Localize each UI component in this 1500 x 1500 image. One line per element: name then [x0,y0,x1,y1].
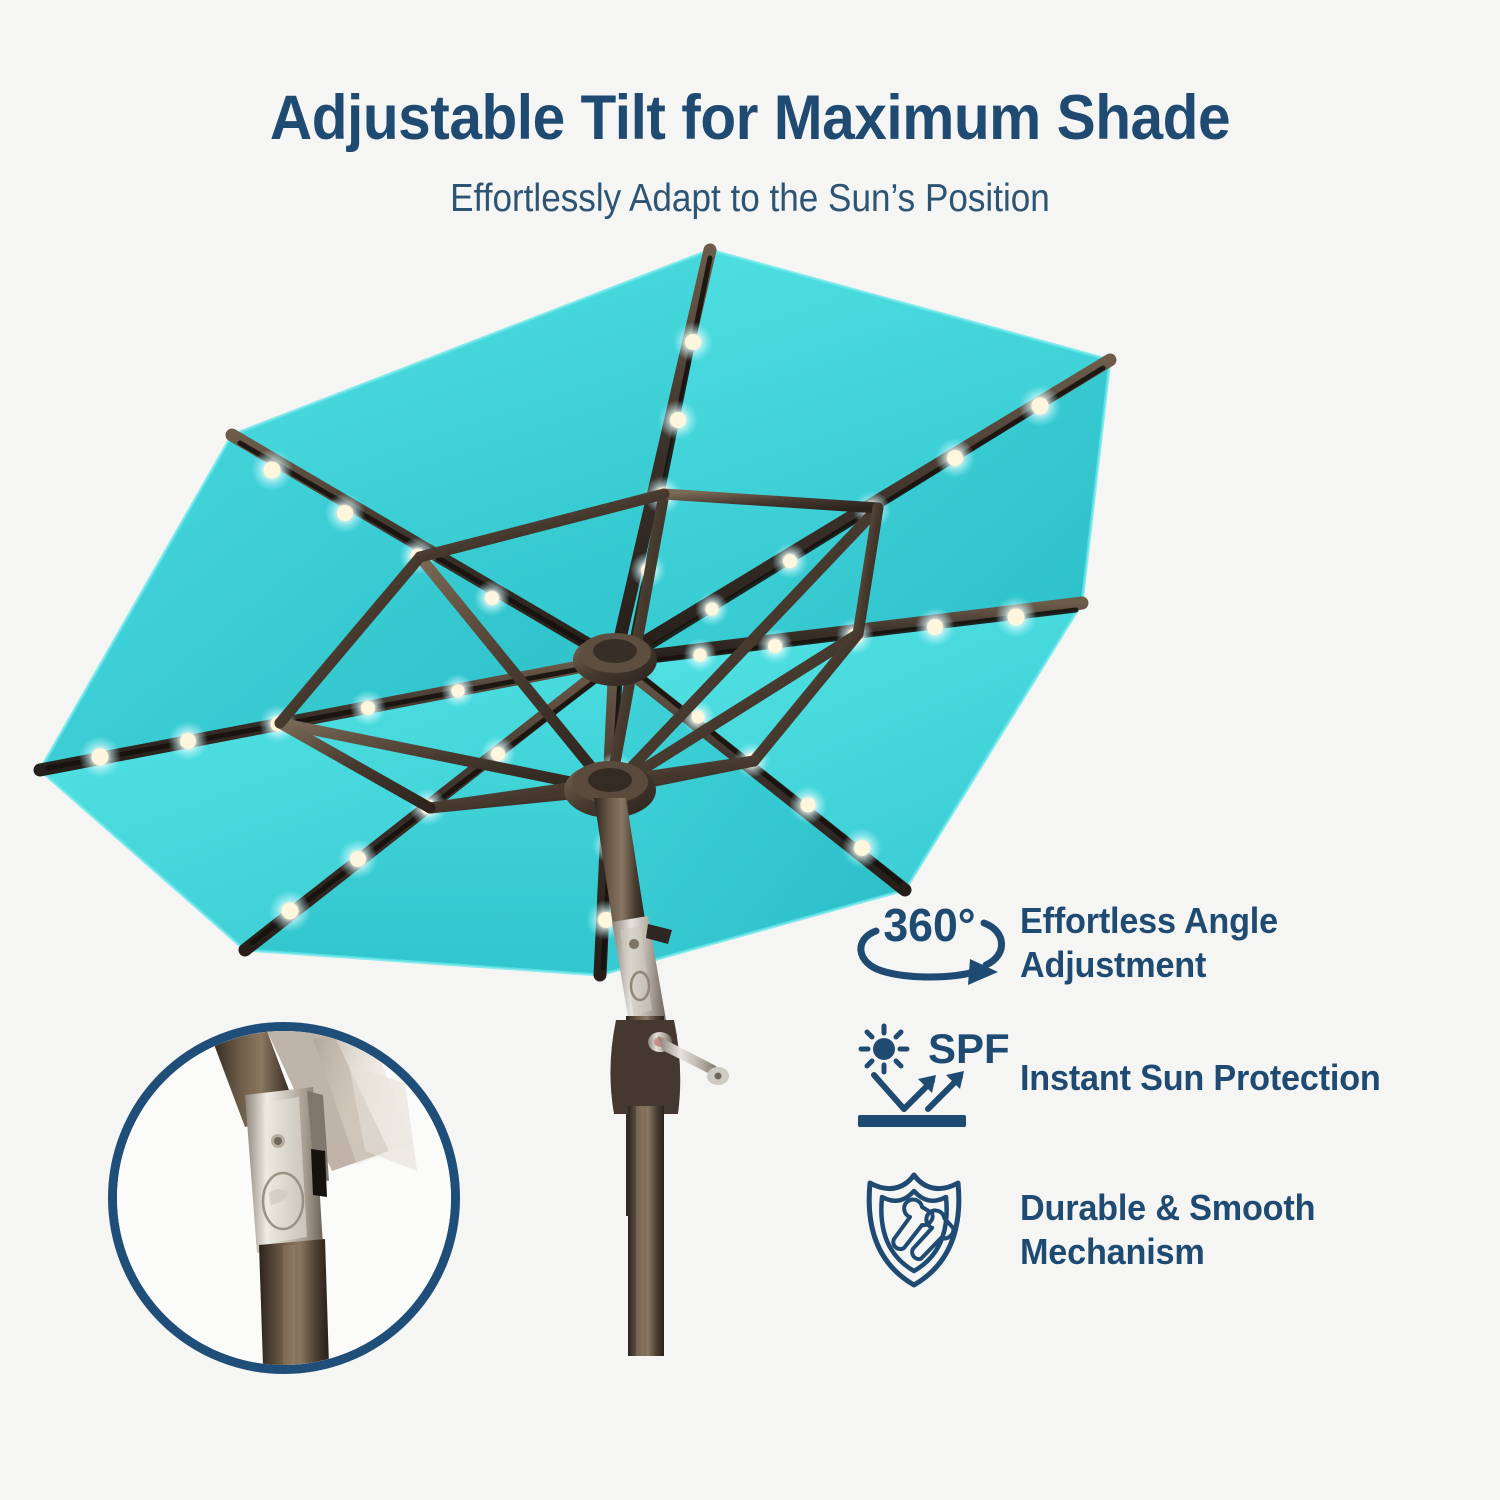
feature-label-line2: Adjustment [1020,943,1278,987]
page-title: Adjustable Tilt for Maximum Shade [53,82,1448,154]
rotation-360-icon: 360° [845,893,1020,993]
lower-pole [259,1239,329,1365]
crank-mechanism [610,1020,729,1114]
svg-text:SPF: SPF [928,1025,1010,1072]
feature-label-line2: Mechanism [1020,1230,1315,1274]
feature-label-durable-mechanism: Durable & Smooth Mechanism [1020,1186,1315,1274]
feature-label-angle-adjustment: Effortless Angle Adjustment [1020,899,1278,987]
feature-item-sun-protection: SPF Instant Sun Protection [845,1023,1485,1133]
svg-text:360°: 360° [883,899,975,951]
feature-label-line1: Durable & Smooth [1020,1186,1315,1230]
umbrella-canopy [40,250,1110,975]
marketing-image-canvas: Adjustable Tilt for Maximum Shade Effort… [0,0,1500,1500]
umbrella-pole-lower [628,1106,664,1356]
feature-item-angle-adjustment: 360° Effortless Angle Adjustment [845,893,1485,993]
feature-label-line1: Effortless Angle [1020,899,1278,943]
spf-sun-protection-icon: SPF [845,1023,1020,1133]
tilt-mechanism-closeup-inset [108,1022,460,1374]
page-subtitle: Effortlessly Adapt to the Sun’s Position [75,177,1425,221]
shield-wrench-icon [845,1167,1020,1292]
feature-list: 360° Effortless Angle Adjustment [845,893,1485,1332]
feature-label-line1: Instant Sun Protection [1020,1056,1381,1100]
chrome-tilt-collar [245,1087,329,1253]
feature-item-durable-mechanism: Durable & Smooth Mechanism [845,1167,1485,1292]
feature-label-sun-protection: Instant Sun Protection [1020,1056,1381,1100]
